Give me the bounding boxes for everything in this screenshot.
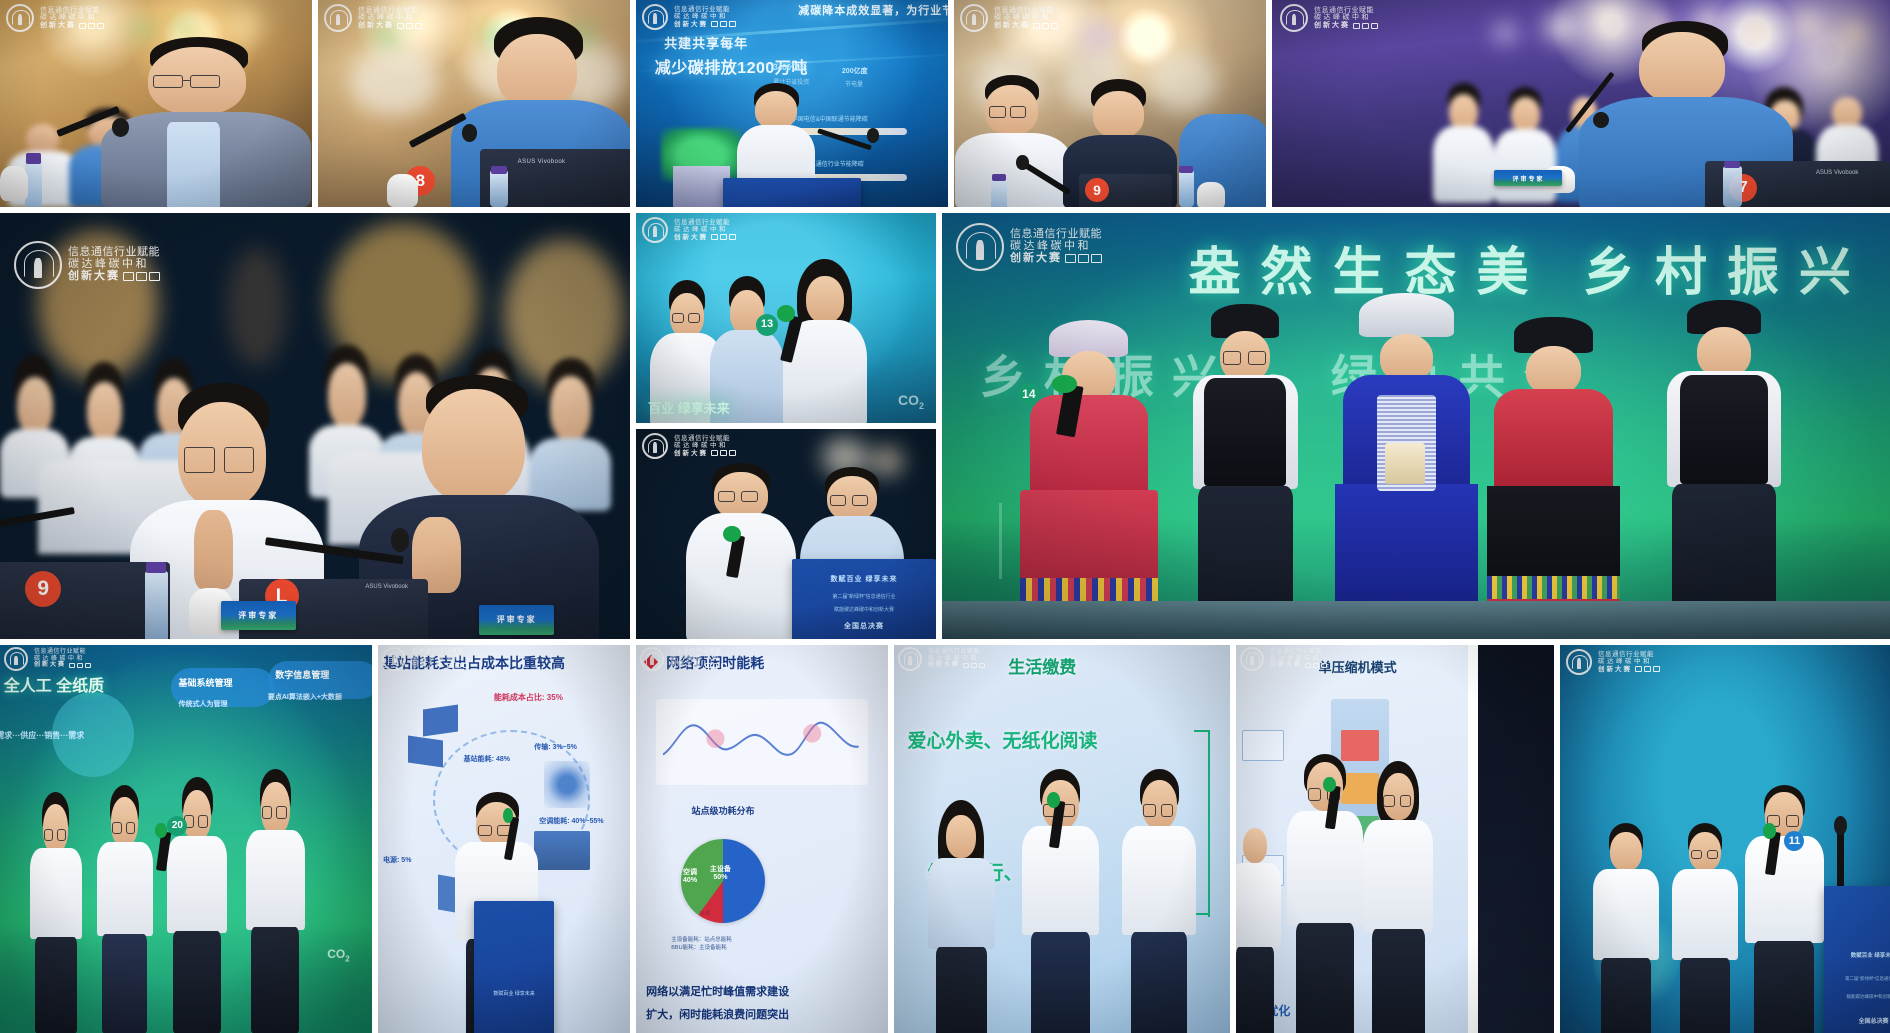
photo-tile-ethnic-costume-group-on-stage[interactable]: 盎然生态美 乡村振兴 乡村振兴 · 绿色共生 — [942, 213, 1890, 639]
photo-tile-judge-blue-polo-with-laptop[interactable]: ASUS Vivobook 8 信息通信行业赋能 碳达峰碳中和 创新大赛 — [318, 0, 630, 207]
photo-tile-team-presentation-female-speaker[interactable]: 13 百业 绿享未来 CO2 信息通信行业赋能 碳达峰碳中和 创新大赛 — [636, 213, 936, 423]
desk-nameplate: 评审专家 — [221, 601, 297, 631]
pie-footnotes: 主设备能耗：站点总能耗BBU能耗：主设备能耗 — [671, 936, 732, 953]
pie-slice-label-main: 主设备50% — [710, 866, 731, 881]
event-podium: 数赋百业 绿享未来 第二届“新绿杯”信息通信行业 赋能碳达峰碳中和创新大赛 全国… — [1824, 886, 1890, 1033]
photo-tile-judges-panel-two-seated[interactable]: 9 信息通信行业赋能 碳达峰碳中和 创新大赛 — [954, 0, 1266, 207]
photo-tile-team-three-presenters-blue-stage[interactable]: 11 数赋百业 绿享未来 第二届“新绿杯”信息通信行业 赋能碳达峰碳中和创新大赛… — [1560, 645, 1890, 1033]
contestant-number-badge: 13 — [756, 314, 778, 336]
slide-label-pie-title: 站点级功耗分布 — [691, 804, 754, 817]
podium-line-2: 第二届“新绿杯”信息通信行业 — [801, 593, 928, 600]
photo-tile-judge-blue-shirt-with-microphone[interactable]: ASUS Vivobook 7 评审专家 信息通信行业赋能 碳达峰碳中和 创新大… — [1272, 0, 1890, 207]
pie-slice-label-power: 电源 — [700, 910, 710, 917]
podium-line-2: 第二届“新绿杯”信息通信行业 — [1828, 976, 1890, 982]
co2-label-icon: CO2 — [327, 947, 349, 963]
photo-tile-team-four-presenters-green-screen[interactable]: 全人工 全纸质 需求···供应···销售···需求 基础系统管理 传统式人为管理… — [0, 645, 372, 1033]
co2-label-icon: CO2 — [898, 392, 924, 411]
slide-conclusion-2: 扩大，闲时能耗浪费问题突出 — [646, 1006, 789, 1022]
energy-curve-chart — [661, 707, 863, 773]
podium-line-3: 赋能碳达峰碳中和创新大赛 — [1828, 994, 1890, 1000]
podium-line-4: 全国总决赛 — [1828, 1016, 1890, 1025]
event-podium: 数赋百业 绿享未来 第二届“新绿杯”信息通信行业 赋能碳达峰碳中和创新大赛 全国… — [792, 559, 936, 639]
photo-tile-keynote-speaker-carbon-reduction-slide[interactable]: 减碳降本成效显著，为行业节能降碳贡献力量 共建共享每年 减少碳排放1200万吨 … — [636, 0, 948, 207]
stage-screen-text: 百业 绿享未来 — [648, 398, 730, 417]
slide-title: 网络项闲时能耗 — [666, 653, 764, 673]
laptop-brand-label: ASUS Vivobook — [518, 159, 566, 165]
photo-tile-network-idle-energy-slide[interactable]: 网络项闲时能耗 站点级功耗分布 主设备50% 空调40% 电源 主设备能耗：站点… — [636, 645, 888, 1033]
photo-tile-team-compressor-mode-slide[interactable]: 单压缩机模式 负载优化 — [1236, 645, 1554, 1033]
pie-slice-label-ac: 空调40% — [683, 869, 697, 884]
photo-tile-team-three-presenters-life-payment[interactable]: 生活缴费 爱心外卖、无纸化阅读 绿色出行、电子账单 — [894, 645, 1230, 1033]
podium-line-3: 赋能碳达峰碳中和创新大赛 — [801, 606, 928, 613]
photo-tile-panel-expert-speaking-grey-jacket[interactable]: 信息通信行业赋能 碳达峰碳中和 创新大赛 — [0, 0, 312, 207]
desk-nameplate: 评审专家 — [1494, 170, 1562, 187]
photo-tile-judges-reviewing-wide[interactable]: 9 L ASUS Vivobook 评审专家 评审专家 信息通信行业赋能 碳达峰… — [0, 213, 630, 639]
photo-tile-team-presentation-podium-finals[interactable]: 数赋百业 绿享未来 第二届“新绿杯”信息通信行业 赋能碳达峰碳中和创新大赛 全国… — [636, 429, 936, 639]
photo-tile-speaker-energy-cost-slide[interactable]: 基站能耗支出占成本比重较高 能耗成本占比: 35% 基站能耗: 48% 电源: … — [378, 645, 630, 1033]
contestant-number-badge: 9 — [25, 571, 61, 607]
power-distribution-pie-chart: 主设备50% 空调40% 电源 — [681, 839, 765, 923]
podium-line-1: 数赋百业 绿享未来 — [804, 574, 925, 584]
photo-collage: 信息通信行业赋能 碳达峰碳中和 创新大赛 — [0, 0, 1890, 1033]
podium-line-4: 全国总决赛 — [801, 621, 928, 631]
podium-line-1: 数赋百业 绿享未来 — [1830, 951, 1890, 959]
laptop-brand-label: ASUS Vivobook — [1816, 170, 1859, 176]
slide-conclusion-1: 网络以满足忙时峰值需求建设 — [646, 983, 789, 999]
contestant-number-badge: 9 — [1085, 178, 1109, 202]
laptop-brand-label: ASUS Vivobook — [365, 584, 408, 590]
desk-nameplate: 评审专家 — [479, 605, 555, 635]
